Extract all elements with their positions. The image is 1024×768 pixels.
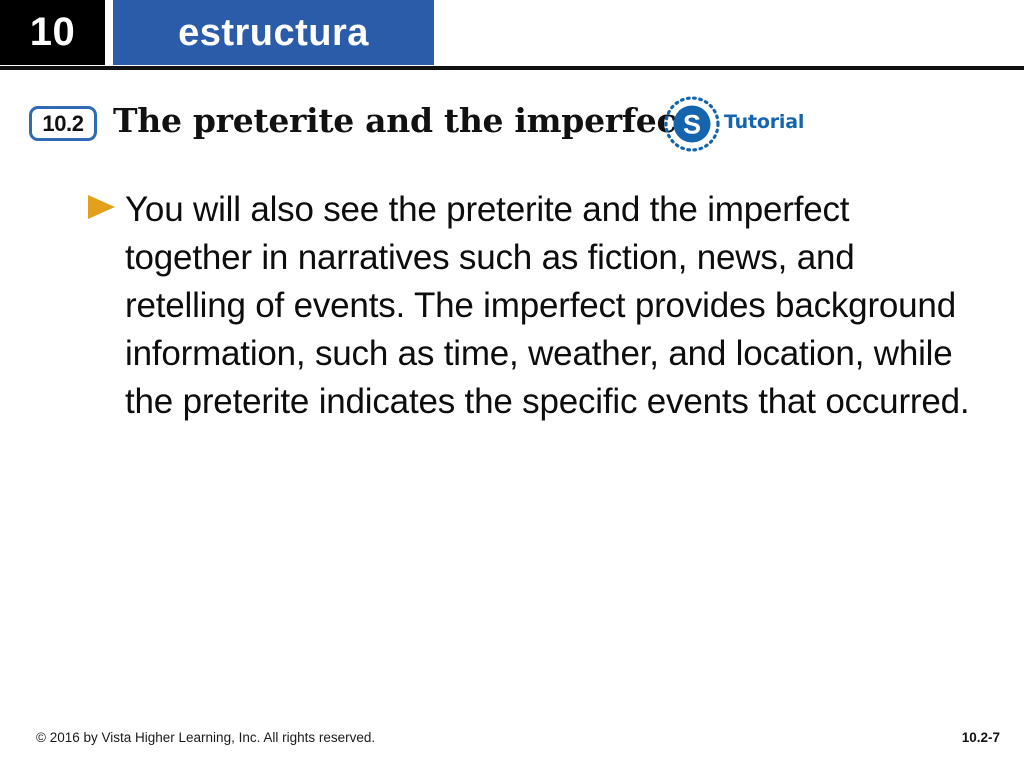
chapter-number: 10 [0, 0, 105, 65]
svg-text:S: S [683, 110, 701, 140]
section-name: estructura [113, 0, 434, 65]
page-title: The preterite and the imperfect [113, 101, 691, 140]
slide-footer: © 2016 by Vista Higher Learning, Inc. Al… [0, 726, 1024, 754]
triangle-bullet-icon [88, 195, 115, 219]
slide-header: 10 estructura [0, 0, 1024, 65]
tutorial-label[interactable]: Tutorial [724, 111, 804, 133]
copyright-text: © 2016 by Vista Higher Learning, Inc. Al… [36, 730, 375, 745]
section-number-badge: 10.2 [29, 106, 97, 141]
bullet-text: You will also see the preterite and the … [125, 186, 980, 426]
page-number: 10.2-7 [962, 730, 1000, 745]
section-number-badge-label: 10.2 [32, 109, 94, 138]
supersite-s-icon[interactable]: S [662, 94, 722, 154]
tutorial-badge[interactable]: S Tutorial [662, 94, 792, 154]
subtitle-row: 10.2 The preterite and the imperfect [0, 98, 1024, 154]
header-divider [0, 66, 1024, 70]
